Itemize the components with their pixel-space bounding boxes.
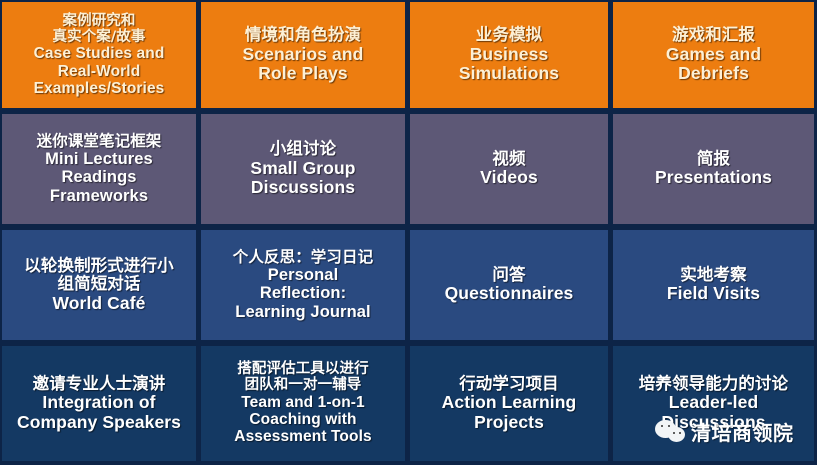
learning-methods-matrix: 案例研究和真实个案/故事Case Studies andReal-WorldEx… xyxy=(0,0,817,465)
matrix-cell-world-cafe: 以轮换制形式进行小组简短对话World Café xyxy=(0,228,199,344)
cell-english-line: Readings xyxy=(6,168,192,186)
cell-english-line: Leader-led xyxy=(617,393,810,413)
cell-english-line: Projects xyxy=(414,413,604,433)
cell-english-line: Reflection: xyxy=(205,284,401,302)
cell-chinese-line: 问答 xyxy=(414,266,604,284)
cell-chinese-line: 游戏和汇报 xyxy=(617,26,810,44)
cell-chinese-line: 行动学习项目 xyxy=(414,375,604,393)
cell-english-line: Games and xyxy=(617,45,810,65)
matrix-cell-company-speakers: 邀请专业人士演讲Integration ofCompany Speakers xyxy=(0,344,199,465)
cell-english-line: Assessment Tools xyxy=(205,428,401,445)
cell-chinese-line: 视频 xyxy=(414,150,604,168)
cell-chinese-line: 实地考察 xyxy=(617,266,810,284)
cell-english-line: Personal xyxy=(205,266,401,284)
cell-english-line: Scenarios and xyxy=(205,45,401,65)
cell-chinese-line: 情境和角色扮演 xyxy=(205,26,401,44)
cell-english-line: World Café xyxy=(6,294,192,314)
cell-chinese-line: 组简短对话 xyxy=(6,275,192,293)
cell-english-line: Action Learning xyxy=(414,393,604,413)
cell-english-line: Team and 1-on-1 xyxy=(205,394,401,411)
matrix-cell-questionnaires: 问答Questionnaires xyxy=(408,228,611,344)
cell-chinese-line: 邀请专业人士演讲 xyxy=(6,375,192,393)
matrix-cell-mini-lectures: 迷你课堂笔记框架Mini LecturesReadingsFrameworks xyxy=(0,112,199,228)
matrix-cell-scenarios-role-plays: 情境和角色扮演Scenarios andRole Plays xyxy=(199,0,408,112)
cell-english-line: Coaching with xyxy=(205,411,401,428)
cell-chinese-line: 搭配评估工具以进行 xyxy=(205,361,401,377)
cell-english-line: Presentations xyxy=(617,168,810,188)
cell-english-line: Frameworks xyxy=(6,187,192,205)
cell-chinese-line: 业务模拟 xyxy=(414,26,604,44)
matrix-cell-field-visits: 实地考察Field Visits xyxy=(611,228,817,344)
cell-chinese-line: 培养领导能力的讨论 xyxy=(617,375,810,393)
cell-chinese-line: 团队和一对一辅导 xyxy=(205,377,401,393)
matrix-cell-games-debriefs: 游戏和汇报Games andDebriefs xyxy=(611,0,817,112)
cell-english-line: Simulations xyxy=(414,64,604,84)
cell-chinese-line: 个人反思：学习日记 xyxy=(205,249,401,266)
matrix-cell-videos: 视频Videos xyxy=(408,112,611,228)
cell-english-line: Discussions xyxy=(617,413,810,433)
matrix-cell-team-coaching: 搭配评估工具以进行团队和一对一辅导Team and 1-on-1Coaching… xyxy=(199,344,408,465)
cell-english-line: Real-World xyxy=(6,63,192,80)
cell-chinese-line: 以轮换制形式进行小 xyxy=(6,257,192,275)
cell-english-line: Field Visits xyxy=(617,284,810,304)
cell-english-line: Examples/Stories xyxy=(6,80,192,97)
cell-english-line: Videos xyxy=(414,168,604,188)
cell-english-line: Company Speakers xyxy=(6,413,192,433)
cell-english-line: Discussions xyxy=(205,178,401,198)
cell-english-line: Learning Journal xyxy=(205,303,401,321)
cell-chinese-line: 简报 xyxy=(617,150,810,168)
matrix-cell-leader-led-discussions: 培养领导能力的讨论Leader-ledDiscussions xyxy=(611,344,817,465)
cell-english-line: Questionnaires xyxy=(414,284,604,304)
cell-english-line: Integration of xyxy=(6,393,192,413)
cell-english-line: Case Studies and xyxy=(6,45,192,62)
cell-english-line: Debriefs xyxy=(617,64,810,84)
cell-english-line: Mini Lectures xyxy=(6,150,192,168)
matrix-cell-personal-reflection: 个人反思：学习日记PersonalReflection:Learning Jou… xyxy=(199,228,408,344)
matrix-cell-small-group-discussions: 小组讨论Small GroupDiscussions xyxy=(199,112,408,228)
cell-english-line: Business xyxy=(414,45,604,65)
matrix-cell-business-simulations: 业务模拟BusinessSimulations xyxy=(408,0,611,112)
cell-english-line: Small Group xyxy=(205,159,401,179)
matrix-cell-presentations: 简报Presentations xyxy=(611,112,817,228)
cell-chinese-line: 小组讨论 xyxy=(205,140,401,158)
matrix-cell-case-studies: 案例研究和真实个案/故事Case Studies andReal-WorldEx… xyxy=(0,0,199,112)
cell-chinese-line: 真实个案/故事 xyxy=(6,29,192,45)
matrix-cell-action-learning: 行动学习项目Action LearningProjects xyxy=(408,344,611,465)
cell-chinese-line: 迷你课堂笔记框架 xyxy=(6,133,192,150)
cell-chinese-line: 案例研究和 xyxy=(6,13,192,29)
cell-english-line: Role Plays xyxy=(205,64,401,84)
